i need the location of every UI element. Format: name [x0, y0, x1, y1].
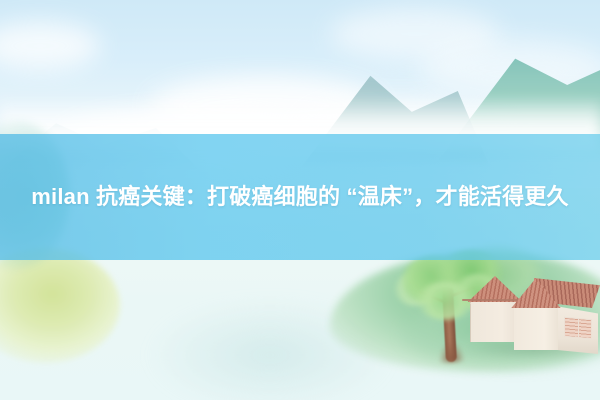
title-band: milan 抗癌关键：打破癌细胞的 “温床”，才能活得更久 — [0, 134, 600, 260]
cloud-icon — [420, 40, 600, 96]
page-title: milan 抗癌关键：打破癌细胞的 “温床”，才能活得更久 — [20, 180, 580, 215]
house-illustration — [466, 272, 596, 372]
article-header-banner: milan 抗癌关键：打破癌细胞的 “温床”，才能活得更久 — [0, 0, 600, 400]
house-front-wall — [514, 306, 558, 350]
cloud-icon — [0, 22, 100, 70]
house-window — [564, 317, 592, 339]
cloud-icon — [330, 8, 500, 60]
